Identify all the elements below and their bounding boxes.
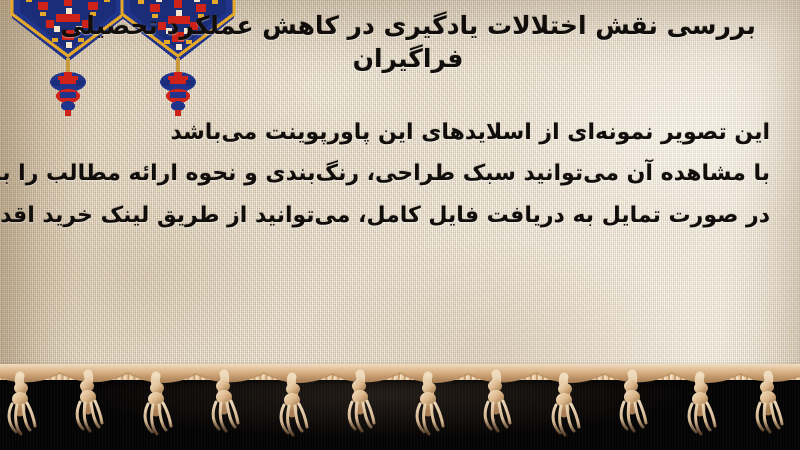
knotted-tassel-fringe (0, 350, 800, 450)
slide-body-text: این تصویر نمونه‌ای از اسلایدهای این پاور… (18, 112, 770, 236)
slide-title-line-2: فراگیران (38, 43, 778, 76)
body-line-1: این تصویر نمونه‌ای از اسلایدهای این پاور… (18, 112, 770, 153)
carpet-edge-band (0, 350, 800, 450)
slide-title-line-1: بررسی نقش اختلالات یادگیری در کاهش عملکر… (38, 10, 778, 43)
body-line-2: با مشاهده آن می‌توانید سبک طراحی، رنگ‌بن… (18, 153, 770, 194)
slide-title: بررسی نقش اختلالات یادگیری در کاهش عملکر… (38, 10, 778, 75)
body-line-3: در صورت تمایل به دریافت فایل کامل، می‌تو… (18, 195, 770, 236)
slide-canvas: بررسی نقش اختلالات یادگیری در کاهش عملکر… (0, 0, 800, 450)
